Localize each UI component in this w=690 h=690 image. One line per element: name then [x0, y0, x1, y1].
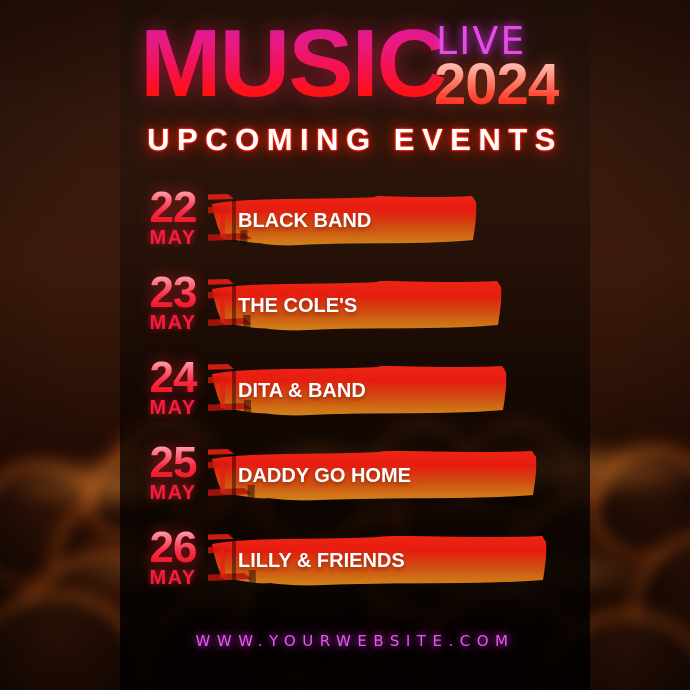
event-list: 22MAYBLACK BAND23MAYTHE COLE'S24MAYDITA … [120, 186, 590, 611]
event-date: 22MAY [138, 186, 208, 248]
event-poster: MUSIC LIVE 2024 UPCOMING EVENTS 22MAYBLA… [0, 0, 690, 690]
event-day: 26 [138, 526, 208, 570]
event-date: 23MAY [138, 271, 208, 333]
event-row[interactable]: 26MAYLILLY & FRIENDS [120, 526, 590, 611]
event-banner[interactable]: THE COLE'S [208, 275, 503, 337]
event-date: 26MAY [138, 526, 208, 588]
event-banner[interactable]: DADDY GO HOME [208, 445, 538, 507]
event-name: THE COLE'S [208, 275, 533, 337]
event-name: DADDY GO HOME [208, 445, 568, 507]
event-day: 25 [138, 441, 208, 485]
event-name: LILLY & FRIENDS [208, 530, 578, 592]
event-row[interactable]: 24MAYDITA & BAND [120, 356, 590, 441]
event-date: 25MAY [138, 441, 208, 503]
event-date: 24MAY [138, 356, 208, 418]
event-banner[interactable]: DITA & BAND [208, 360, 508, 422]
event-row[interactable]: 25MAYDADDY GO HOME [120, 441, 590, 526]
event-day: 22 [138, 186, 208, 230]
event-day: 23 [138, 271, 208, 315]
poster-subtitle: UPCOMING EVENTS [120, 122, 590, 158]
poster-header: MUSIC LIVE 2024 [120, 14, 590, 119]
event-name: BLACK BAND [208, 190, 508, 252]
poster-title-music: MUSIC [140, 16, 445, 112]
poster-content-panel: MUSIC LIVE 2024 UPCOMING EVENTS 22MAYBLA… [120, 0, 590, 690]
event-banner[interactable]: BLACK BAND [208, 190, 478, 252]
website-footer: WWW.YOURWEBSITE.COM [120, 632, 590, 650]
event-row[interactable]: 22MAYBLACK BAND [120, 186, 590, 271]
poster-title-year: 2024 [434, 56, 559, 114]
event-day: 24 [138, 356, 208, 400]
event-row[interactable]: 23MAYTHE COLE'S [120, 271, 590, 356]
event-banner[interactable]: LILLY & FRIENDS [208, 530, 548, 592]
event-name: DITA & BAND [208, 360, 538, 422]
